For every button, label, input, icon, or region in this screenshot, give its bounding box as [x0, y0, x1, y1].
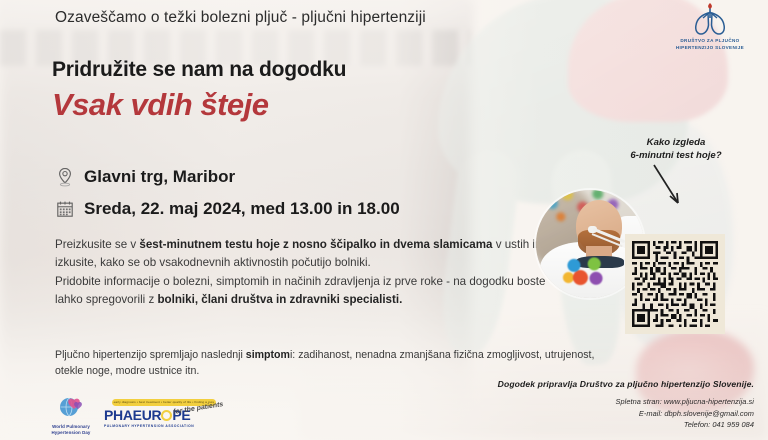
annotation-line1: Kako izgleda: [596, 136, 756, 149]
annotation-line2: 6-minutni test hoje?: [596, 149, 756, 162]
pha-o-globe-icon: [161, 410, 172, 421]
symptoms-text: Pljučno hipertenzijo spremljajo naslednj…: [55, 347, 615, 379]
event-date-label: Sreda, 22. maj 2024, med 13.00 in 18.00: [84, 199, 400, 219]
kicker-text: Ozaveščamo o težki bolezni pljuč - pljuč…: [55, 9, 426, 27]
symptoms-bold: simptom: [246, 349, 290, 361]
body-p2-bold: bolniki, člani društva in zdravniki spec…: [157, 293, 402, 306]
pha-europe-logo: early diagnosis • best treatment • bette…: [104, 399, 222, 433]
association-logo-line1: DRUŠTVO ZA PLJUČNO: [662, 37, 758, 44]
calendar-icon: [56, 199, 74, 219]
body-paragraph-2: Pridobite informacije o bolezni, simptom…: [55, 273, 560, 310]
event-date: Sreda, 22. maj 2024, med 13.00 in 18.00: [56, 199, 400, 219]
body-copy: Preizkusite se v šest-minutnem testu hoj…: [55, 236, 560, 310]
hearts-globe-icon: [58, 397, 84, 419]
poster: DRUŠTVO ZA PLJUČNO HIPERTENZIJO SLOVENIJ…: [0, 0, 768, 440]
body-paragraph-1: Preizkusite se v šest-minutnem testu hoj…: [55, 236, 560, 273]
body-p1-bold: šest-minutnem testu hoje z nosno ščipalk…: [139, 238, 492, 251]
subheading: Pridružite se nam na dogodku: [52, 58, 346, 82]
pha-name-b: EUR: [133, 407, 162, 423]
contact-phone: Telefon: 041 959 084: [616, 419, 754, 431]
pha-name-a: PHA: [104, 407, 133, 423]
organizer-credit: Dogodek pripravlja Društvo za pljučno hi…: [498, 379, 754, 389]
contact-website[interactable]: Spletna stran: www.pljucna-hipertenzija.…: [616, 396, 754, 408]
event-location-label: Glavni trg, Maribor: [84, 167, 235, 187]
map-pin-icon: [56, 167, 74, 187]
world-ph-day-line2: Hypertension Day: [42, 430, 100, 436]
page-title: Vsak vdih šteje: [52, 87, 269, 123]
qr-code-image: [632, 241, 718, 327]
qr-code[interactable]: [625, 234, 725, 334]
contact-block: Spletna stran: www.pljucna-hipertenzija.…: [616, 396, 754, 431]
lungs-icon: [688, 3, 732, 37]
annotation-callout: Kako izgleda 6-minutni test hoje?: [596, 136, 756, 162]
association-logo: DRUŠTVO ZA PLJUČNO HIPERTENZIJO SLOVENIJ…: [662, 3, 758, 57]
arrow-icon: [650, 163, 690, 211]
contact-email[interactable]: E-mail: dbph.slovenije@gmail.com: [616, 408, 754, 420]
pha-subtitle: PULMONARY HYPERTENSION ASSOCIATION: [104, 424, 222, 428]
association-logo-line2: HIPERTENZIJO SLOVENIJE: [662, 44, 758, 51]
event-location: Glavni trg, Maribor: [56, 167, 235, 187]
world-ph-day-logo: World Pulmonary Hypertension Day: [42, 397, 100, 437]
symptoms-a: Pljučno hipertenzijo spremljajo naslednj…: [55, 349, 246, 361]
body-p1-a: Preizkusite se v: [55, 238, 139, 251]
